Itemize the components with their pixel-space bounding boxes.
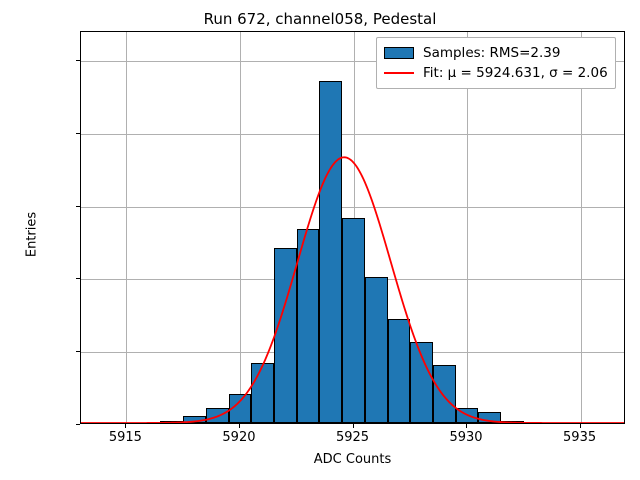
x-tick-label: 5915 bbox=[109, 430, 142, 445]
legend-label-fit: Fit: μ = 5924.631, σ = 2.06 bbox=[423, 65, 608, 81]
x-tick-label: 5935 bbox=[563, 430, 596, 445]
x-tick-mark bbox=[239, 424, 240, 428]
legend-item-samples: Samples: RMS=2.39 bbox=[384, 43, 608, 63]
y-tick-mark bbox=[76, 424, 80, 425]
y-tick-mark bbox=[76, 60, 80, 61]
legend-patch-icon bbox=[384, 47, 414, 59]
legend-item-fit: Fit: μ = 5924.631, σ = 2.06 bbox=[384, 63, 608, 83]
y-tick-mark bbox=[76, 351, 80, 352]
y-tick-mark bbox=[76, 278, 80, 279]
x-tick-mark bbox=[125, 424, 126, 428]
x-tick-mark bbox=[466, 424, 467, 428]
x-tick-label: 5930 bbox=[449, 430, 482, 445]
figure-canvas: Run 672, channel058, Pedestal 0500100015… bbox=[0, 0, 640, 480]
x-tick-label: 5925 bbox=[336, 430, 369, 445]
legend-line-icon bbox=[384, 72, 414, 74]
x-tick-mark bbox=[353, 424, 354, 428]
x-tick-mark bbox=[580, 424, 581, 428]
x-tick-label: 5920 bbox=[222, 430, 255, 445]
y-tick-mark bbox=[76, 206, 80, 207]
plot-area bbox=[80, 31, 625, 424]
page-title: Run 672, channel058, Pedestal bbox=[0, 10, 640, 28]
gaussian-fit-curve bbox=[81, 32, 624, 423]
x-axis-label: ADC Counts bbox=[80, 452, 625, 467]
chart-legend: Samples: RMS=2.39 Fit: μ = 5924.631, σ =… bbox=[376, 37, 616, 89]
legend-label-samples: Samples: RMS=2.39 bbox=[423, 45, 560, 61]
y-tick-mark bbox=[76, 133, 80, 134]
y-axis-label: Entries bbox=[25, 175, 40, 295]
